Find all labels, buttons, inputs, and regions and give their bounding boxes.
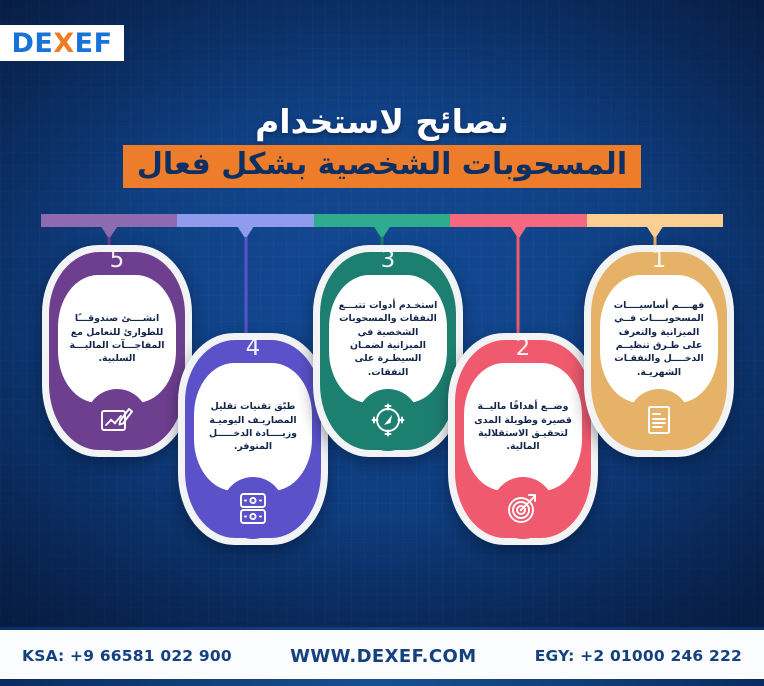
footer-website[interactable]: WWW.DEXEF.COM <box>290 646 476 667</box>
tip-card-text-panel: استخـدم أدوات تتبـــع النفقات والمسحوبات… <box>329 275 447 403</box>
footer-egy-phone[interactable]: EGY: +2 01000 246 222 <box>535 647 742 665</box>
rail-segment-2 <box>177 214 313 227</box>
tip-card-number: 4 <box>233 336 273 360</box>
logo-prefix: DE <box>11 28 53 59</box>
target-arrow-icon <box>492 477 554 539</box>
tip-card-5[interactable]: 5انشــــئ صندوقـــًا للطوارئ للتعامل مع … <box>42 245 192 457</box>
tip-card-text: طبّق تقنيات تقليل المصاريـف اليوميـة وزي… <box>203 400 303 453</box>
footer-bar: KSA: +9 66581 022 900 WWW.DEXEF.COM EGY:… <box>0 630 764 686</box>
rail-segment-5 <box>587 214 723 227</box>
tip-card-text: فهــــم أساسيــــات المسحوبــــات فــي ا… <box>609 299 709 379</box>
tip-card-text: انشــــئ صندوقـــًا للطوارئ للتعامل مع ا… <box>67 312 167 365</box>
rail-stem-2 <box>244 237 247 343</box>
banknotes-icon <box>222 477 284 539</box>
timeline-rail <box>41 214 723 227</box>
tip-card-text-panel: فهــــم أساسيــــات المسحوبــــات فــي ا… <box>600 275 718 403</box>
tip-card-text: وضــع أهدافًا ماليــة قصيرة وطويلة المدى… <box>473 400 573 453</box>
footer-ksa-phone[interactable]: KSA: +9 66581 022 900 <box>22 647 232 665</box>
tip-card-3[interactable]: 3استخـدم أدوات تتبـــع النفقات والمسحوبا… <box>313 245 463 457</box>
logo-suffix: EF <box>75 28 113 59</box>
tip-card-number: 2 <box>503 336 543 360</box>
title-line-2: المسحوبات الشخصية بشكل فعال <box>123 145 641 188</box>
tip-card-number: 3 <box>368 248 408 272</box>
chart-pen-icon <box>86 389 148 451</box>
rail-stem-4 <box>517 237 520 343</box>
tip-card-number: 5 <box>97 248 137 272</box>
brand-logo: DEXEF <box>0 25 124 61</box>
logo-x-mark: X <box>53 28 74 59</box>
tip-card-text-panel: انشــــئ صندوقـــًا للطوارئ للتعامل مع ا… <box>58 275 176 403</box>
page-title: نصائح لاستخدام المسحوبات الشخصية بشكل فع… <box>0 104 764 188</box>
document-lines-icon <box>628 389 690 451</box>
tip-card-2[interactable]: 2وضــع أهدافًا ماليــة قصيرة وطويلة المد… <box>448 333 598 545</box>
infographic-canvas: DEXEF نصائح لاستخدام المسحوبات الشخصية ب… <box>0 0 764 686</box>
brand-logo-text: DEXEF <box>11 30 112 57</box>
tip-card-4[interactable]: 4طبّق تقنيات تقليل المصاريـف اليوميـة وز… <box>178 333 328 545</box>
tip-card-text-panel: طبّق تقنيات تقليل المصاريـف اليوميـة وزي… <box>194 363 312 491</box>
footer-bottom-edge <box>0 679 764 686</box>
tip-card-1[interactable]: 1فهــــم أساسيــــات المسحوبــــات فــي … <box>584 245 734 457</box>
tip-card-number: 1 <box>639 248 679 272</box>
rail-segment-3 <box>314 214 450 227</box>
tip-card-text: استخـدم أدوات تتبـــع النفقات والمسحوبات… <box>338 299 438 379</box>
tip-card-text-panel: وضــع أهدافًا ماليــة قصيرة وطويلة المدى… <box>464 363 582 491</box>
rail-segment-1 <box>41 214 177 227</box>
navigation-target-icon <box>357 389 419 451</box>
rail-segment-4 <box>450 214 586 227</box>
title-line-1: نصائح لاستخدام <box>0 104 764 141</box>
